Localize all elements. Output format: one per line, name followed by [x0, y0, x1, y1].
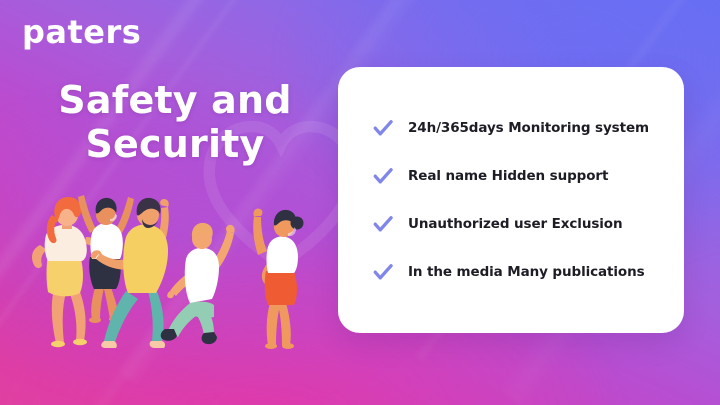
celebrating-people-illustration	[22, 193, 322, 353]
figure-man-yellow-shirt	[91, 198, 169, 348]
page-title-line-1: Safety and	[20, 78, 330, 122]
figure-woman-red-hair	[32, 197, 102, 347]
check-icon	[372, 165, 394, 187]
light-streak	[0, 0, 303, 405]
light-streak	[0, 0, 262, 405]
list-item[interactable]: In the media Many publications	[372, 261, 664, 283]
page-title: Safety and Security	[20, 78, 330, 166]
page-title-line-2: Security	[20, 122, 330, 166]
feature-label: 24h/365days Monitoring system	[408, 120, 649, 136]
list-item[interactable]: Real name Hidden support	[372, 165, 664, 187]
features-card: 24h/365days Monitoring system Real name …	[338, 67, 684, 333]
check-icon	[372, 213, 394, 235]
check-icon	[372, 117, 394, 139]
feature-label: Unauthorized user Exclusion	[408, 216, 622, 232]
figure-woman-jumping	[78, 195, 134, 323]
figure-woman-orange-skirt	[253, 208, 303, 349]
check-icon	[372, 261, 394, 283]
brand-logo[interactable]: paters	[22, 16, 141, 48]
list-item[interactable]: Unauthorized user Exclusion	[372, 213, 664, 235]
slide-canvas: paters Safety and Security 24h/365days M…	[0, 0, 720, 405]
feature-list: 24h/365days Monitoring system Real name …	[372, 117, 664, 283]
figure-man-kneeling	[161, 223, 235, 344]
feature-label: Real name Hidden support	[408, 168, 608, 184]
list-item[interactable]: 24h/365days Monitoring system	[372, 117, 664, 139]
feature-label: In the media Many publications	[408, 264, 645, 280]
